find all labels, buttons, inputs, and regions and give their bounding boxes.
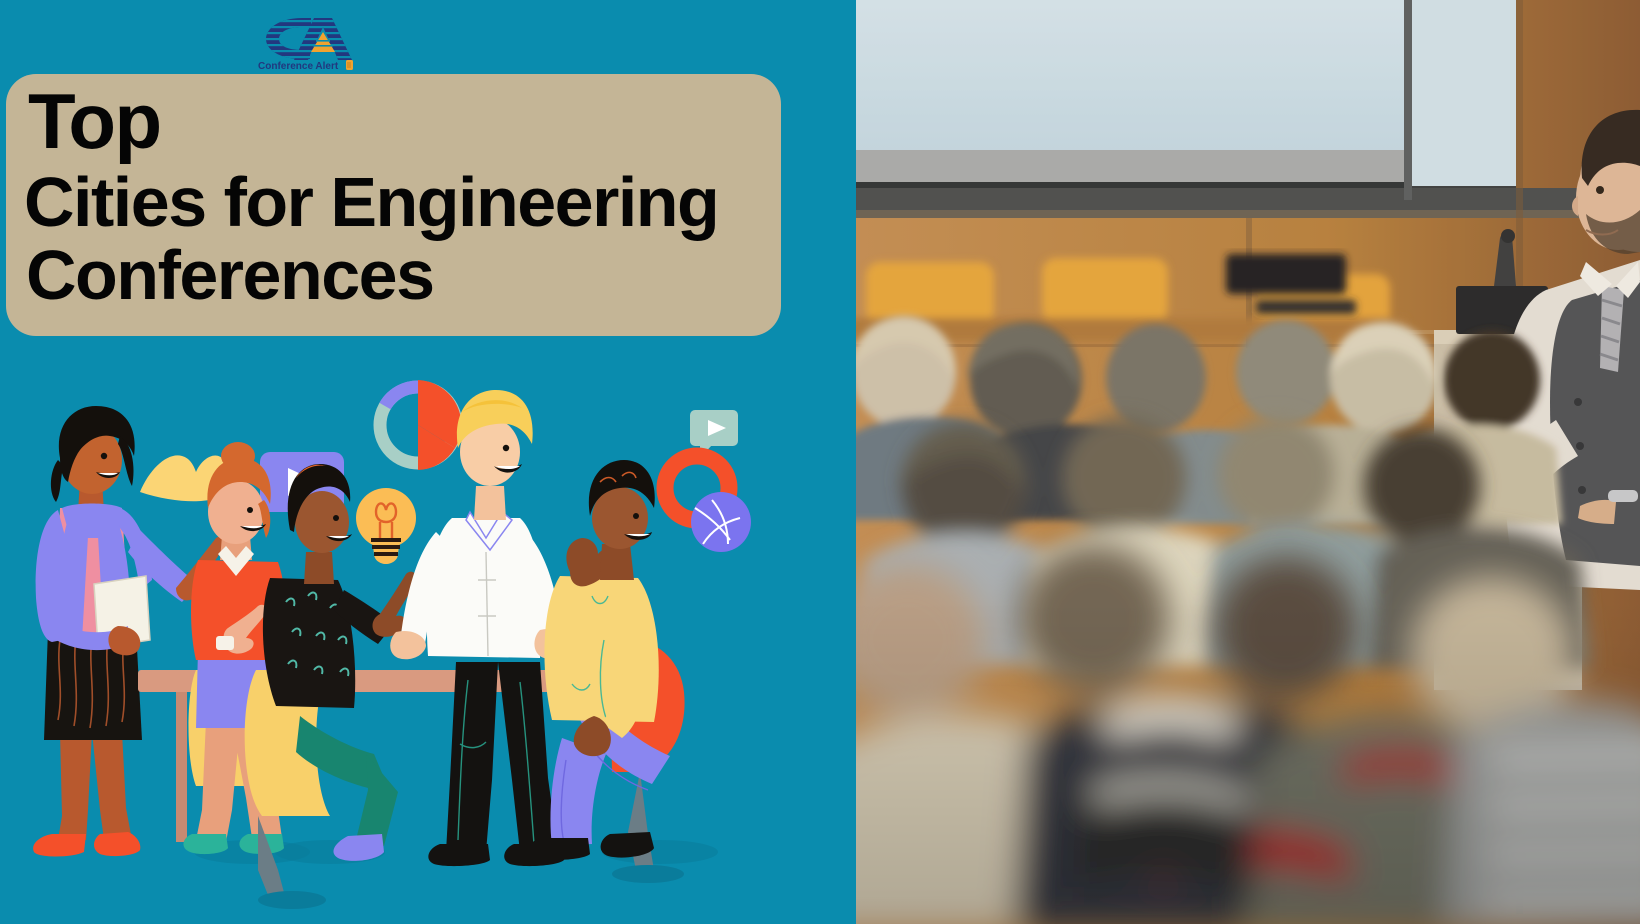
purple-ball-icon: [691, 492, 751, 552]
lightbulb-icon: [356, 488, 416, 564]
conference-alert-logo[interactable]: Conference Alert: [258, 14, 362, 70]
conference-hall-photo: [856, 0, 1640, 924]
title-card: Top Cities for Engineering Conferences: [6, 74, 781, 336]
page-title-line-3: Conferences: [20, 242, 781, 309]
team-illustration: [0, 340, 856, 924]
logo-wordmark: Conference Alert: [258, 61, 339, 70]
banner-canvas: Conference Alert Top Cities for Engineer…: [0, 0, 1640, 924]
seated-man-yellow-sweater: [528, 460, 684, 883]
page-title-line-1: Top: [20, 84, 781, 159]
left-teal-panel: Conference Alert Top Cities for Engineer…: [0, 0, 856, 924]
page-title-line-2: Cities for Engineering: [20, 169, 781, 236]
donut-chart-icon: [380, 380, 461, 470]
logo-mark: Conference Alert: [258, 14, 362, 70]
